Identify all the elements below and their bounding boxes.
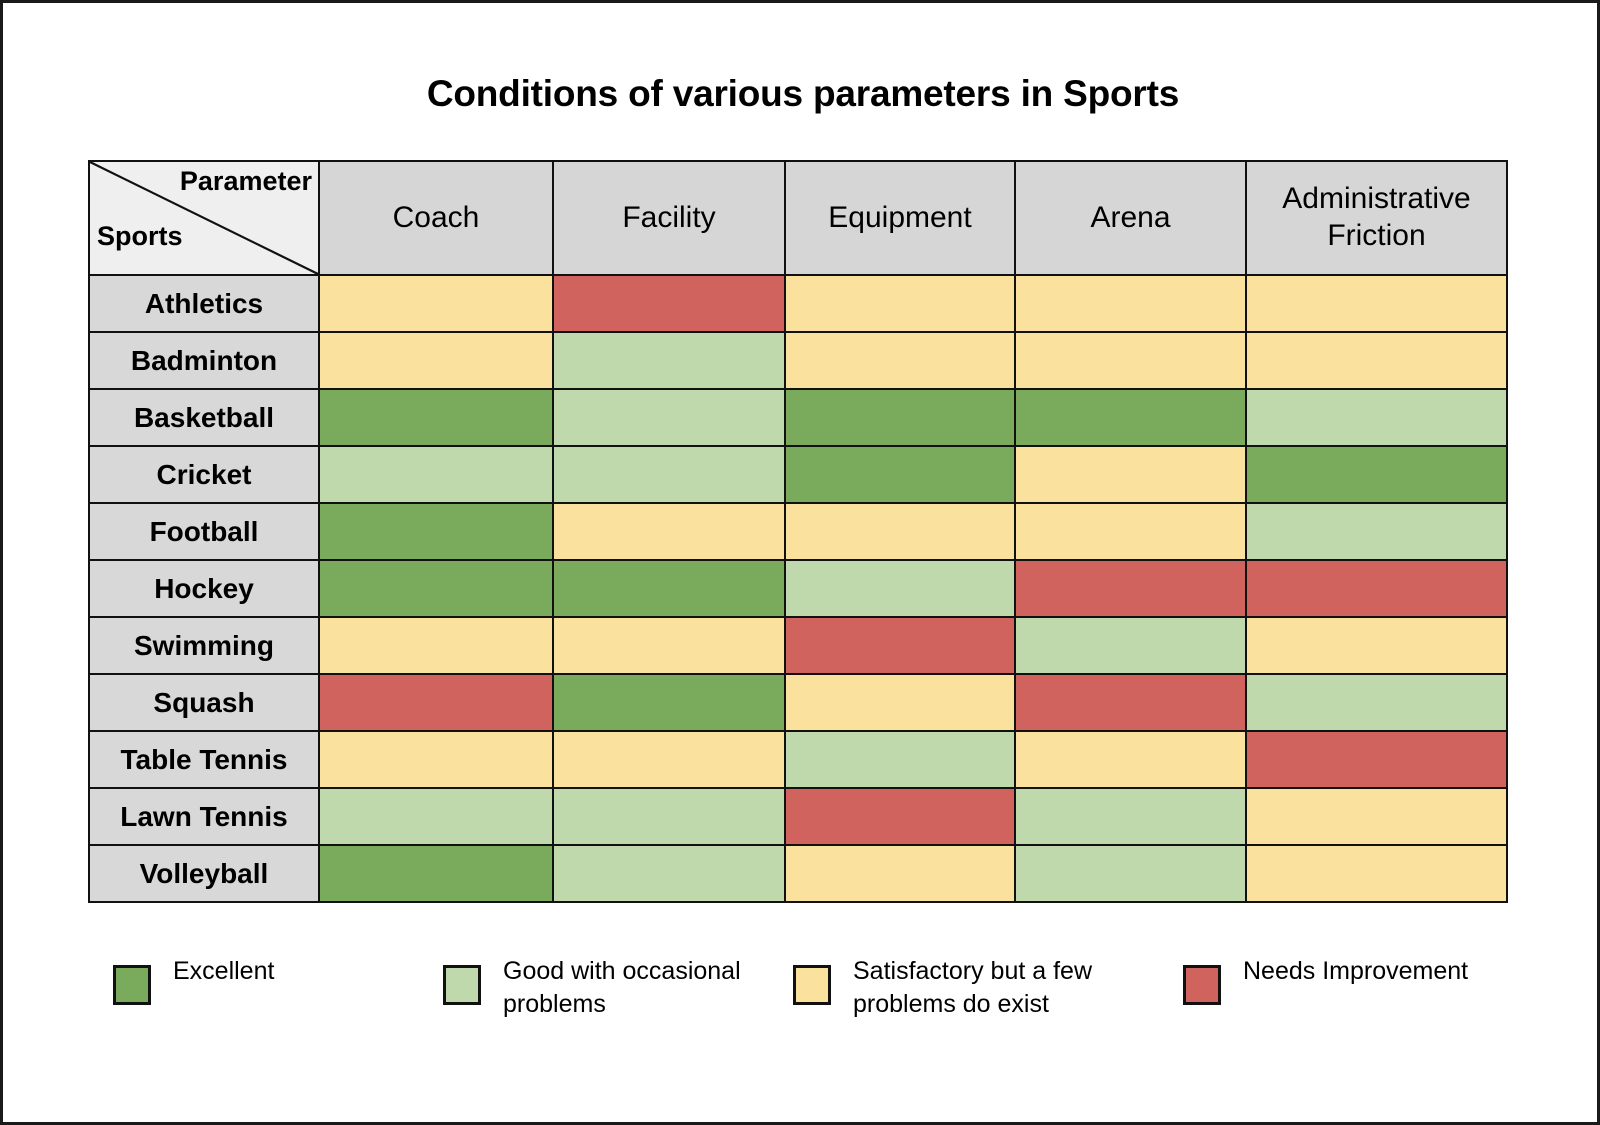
matrix-header: Parameter Sports Coach Facility Equipmen… [89, 161, 1507, 275]
legend-item-needs-improvement[interactable]: Needs Improvement [1183, 955, 1483, 1005]
row-header-lawn-tennis: Lawn Tennis [89, 788, 319, 845]
table-row: Cricket [89, 446, 1507, 503]
cell-table-tennis-arena[interactable] [1015, 731, 1246, 788]
corner-parameter-label: Parameter [180, 167, 312, 197]
cell-lawn-tennis-arena[interactable] [1015, 788, 1246, 845]
corner-sports-label: Sports [97, 222, 183, 252]
row-header-swimming: Swimming [89, 617, 319, 674]
matrix-body: AthleticsBadmintonBasketballCricketFootb… [89, 275, 1507, 902]
legend-item-excellent[interactable]: Excellent [113, 955, 443, 1005]
cell-lawn-tennis-coach[interactable] [319, 788, 553, 845]
cell-hockey-equipment[interactable] [785, 560, 1015, 617]
cell-swimming-coach[interactable] [319, 617, 553, 674]
legend-swatch-icon [1183, 965, 1221, 1005]
legend: ExcellentGood with occasional problemsSa… [113, 955, 1513, 1021]
cell-swimming-facility[interactable] [553, 617, 785, 674]
cell-hockey-facility[interactable] [553, 560, 785, 617]
row-header-hockey: Hockey [89, 560, 319, 617]
cell-basketball-coach[interactable] [319, 389, 553, 446]
table-row: Basketball [89, 389, 1507, 446]
cell-athletics-coach[interactable] [319, 275, 553, 332]
legend-label: Good with occasional problems [503, 955, 793, 1021]
cell-football-administrative-friction[interactable] [1246, 503, 1507, 560]
cell-badminton-administrative-friction[interactable] [1246, 332, 1507, 389]
conditions-matrix: Parameter Sports Coach Facility Equipmen… [88, 160, 1508, 903]
legend-swatch-icon [113, 965, 151, 1005]
table-row: Swimming [89, 617, 1507, 674]
cell-volleyball-administrative-friction[interactable] [1246, 845, 1507, 902]
cell-lawn-tennis-administrative-friction[interactable] [1246, 788, 1507, 845]
cell-basketball-facility[interactable] [553, 389, 785, 446]
cell-basketball-administrative-friction[interactable] [1246, 389, 1507, 446]
row-header-basketball: Basketball [89, 389, 319, 446]
row-header-athletics: Athletics [89, 275, 319, 332]
cell-athletics-equipment[interactable] [785, 275, 1015, 332]
cell-table-tennis-facility[interactable] [553, 731, 785, 788]
cell-lawn-tennis-facility[interactable] [553, 788, 785, 845]
cell-basketball-equipment[interactable] [785, 389, 1015, 446]
cell-athletics-facility[interactable] [553, 275, 785, 332]
cell-cricket-facility[interactable] [553, 446, 785, 503]
cell-football-facility[interactable] [553, 503, 785, 560]
cell-squash-facility[interactable] [553, 674, 785, 731]
cell-cricket-equipment[interactable] [785, 446, 1015, 503]
cell-hockey-coach[interactable] [319, 560, 553, 617]
table-row: Athletics [89, 275, 1507, 332]
legend-item-satisfactory[interactable]: Satisfactory but a few problems do exist [793, 955, 1183, 1021]
row-header-squash: Squash [89, 674, 319, 731]
cell-volleyball-coach[interactable] [319, 845, 553, 902]
column-header-equipment: Equipment [785, 161, 1015, 275]
legend-swatch-icon [793, 965, 831, 1005]
cell-hockey-administrative-friction[interactable] [1246, 560, 1507, 617]
cell-squash-administrative-friction[interactable] [1246, 674, 1507, 731]
column-header-administrative-friction: Administrative Friction [1246, 161, 1507, 275]
chart-canvas: Conditions of various parameters in Spor… [0, 0, 1600, 1125]
cell-squash-equipment[interactable] [785, 674, 1015, 731]
cell-volleyball-arena[interactable] [1015, 845, 1246, 902]
corner-split-header: Parameter Sports [89, 161, 319, 275]
cell-swimming-equipment[interactable] [785, 617, 1015, 674]
cell-hockey-arena[interactable] [1015, 560, 1246, 617]
cell-athletics-administrative-friction[interactable] [1246, 275, 1507, 332]
row-header-table-tennis: Table Tennis [89, 731, 319, 788]
cell-cricket-administrative-friction[interactable] [1246, 446, 1507, 503]
row-header-badminton: Badminton [89, 332, 319, 389]
legend-swatch-icon [443, 965, 481, 1005]
legend-label: Excellent [173, 955, 274, 988]
legend-label: Needs Improvement [1243, 955, 1468, 988]
cell-volleyball-facility[interactable] [553, 845, 785, 902]
cell-squash-arena[interactable] [1015, 674, 1246, 731]
cell-cricket-arena[interactable] [1015, 446, 1246, 503]
cell-table-tennis-equipment[interactable] [785, 731, 1015, 788]
table-row: Volleyball [89, 845, 1507, 902]
cell-football-arena[interactable] [1015, 503, 1246, 560]
column-header-arena: Arena [1015, 161, 1246, 275]
cell-basketball-arena[interactable] [1015, 389, 1246, 446]
table-row: Squash [89, 674, 1507, 731]
cell-badminton-facility[interactable] [553, 332, 785, 389]
cell-table-tennis-coach[interactable] [319, 731, 553, 788]
row-header-football: Football [89, 503, 319, 560]
table-row: Hockey [89, 560, 1507, 617]
table-row: Table Tennis [89, 731, 1507, 788]
cell-swimming-administrative-friction[interactable] [1246, 617, 1507, 674]
header-row: Parameter Sports Coach Facility Equipmen… [89, 161, 1507, 275]
cell-badminton-arena[interactable] [1015, 332, 1246, 389]
row-header-volleyball: Volleyball [89, 845, 319, 902]
cell-badminton-coach[interactable] [319, 332, 553, 389]
legend-label: Satisfactory but a few problems do exist [853, 955, 1183, 1021]
column-header-facility: Facility [553, 161, 785, 275]
legend-item-good[interactable]: Good with occasional problems [443, 955, 793, 1021]
column-header-coach: Coach [319, 161, 553, 275]
cell-lawn-tennis-equipment[interactable] [785, 788, 1015, 845]
table-row: Lawn Tennis [89, 788, 1507, 845]
cell-volleyball-equipment[interactable] [785, 845, 1015, 902]
cell-cricket-coach[interactable] [319, 446, 553, 503]
page-title: Conditions of various parameters in Spor… [3, 73, 1600, 115]
table-row: Football [89, 503, 1507, 560]
row-header-cricket: Cricket [89, 446, 319, 503]
cell-football-equipment[interactable] [785, 503, 1015, 560]
cell-athletics-arena[interactable] [1015, 275, 1246, 332]
cell-swimming-arena[interactable] [1015, 617, 1246, 674]
cell-squash-coach[interactable] [319, 674, 553, 731]
cell-table-tennis-administrative-friction[interactable] [1246, 731, 1507, 788]
table-row: Badminton [89, 332, 1507, 389]
cell-football-coach[interactable] [319, 503, 553, 560]
cell-badminton-equipment[interactable] [785, 332, 1015, 389]
